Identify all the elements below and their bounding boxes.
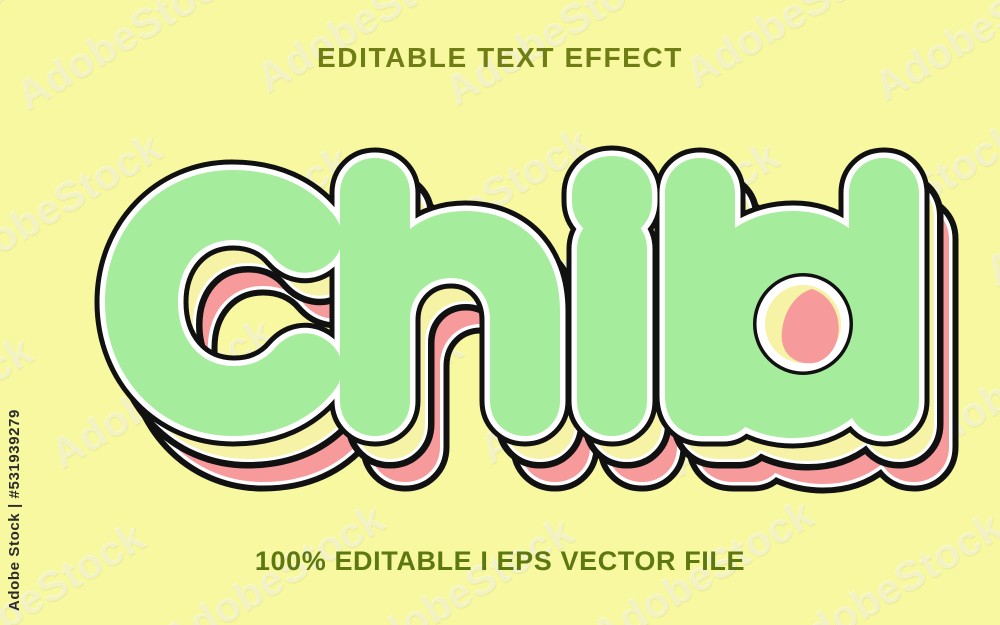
child-text-artwork [0, 0, 1000, 625]
image-canvas: AdobeStock AdobeStock AdobeStock AdobeSt… [0, 0, 1000, 625]
footer-eps-vector-file: 100% EDITABLE I EPS VECTOR FILE [0, 546, 1000, 577]
headline-editable-text-effect: EDITABLE TEXT EFFECT [0, 42, 1000, 74]
adobe-stock-credit: Adobe Stock | #531939279 [6, 409, 23, 611]
letter-d-counter [761, 281, 845, 367]
